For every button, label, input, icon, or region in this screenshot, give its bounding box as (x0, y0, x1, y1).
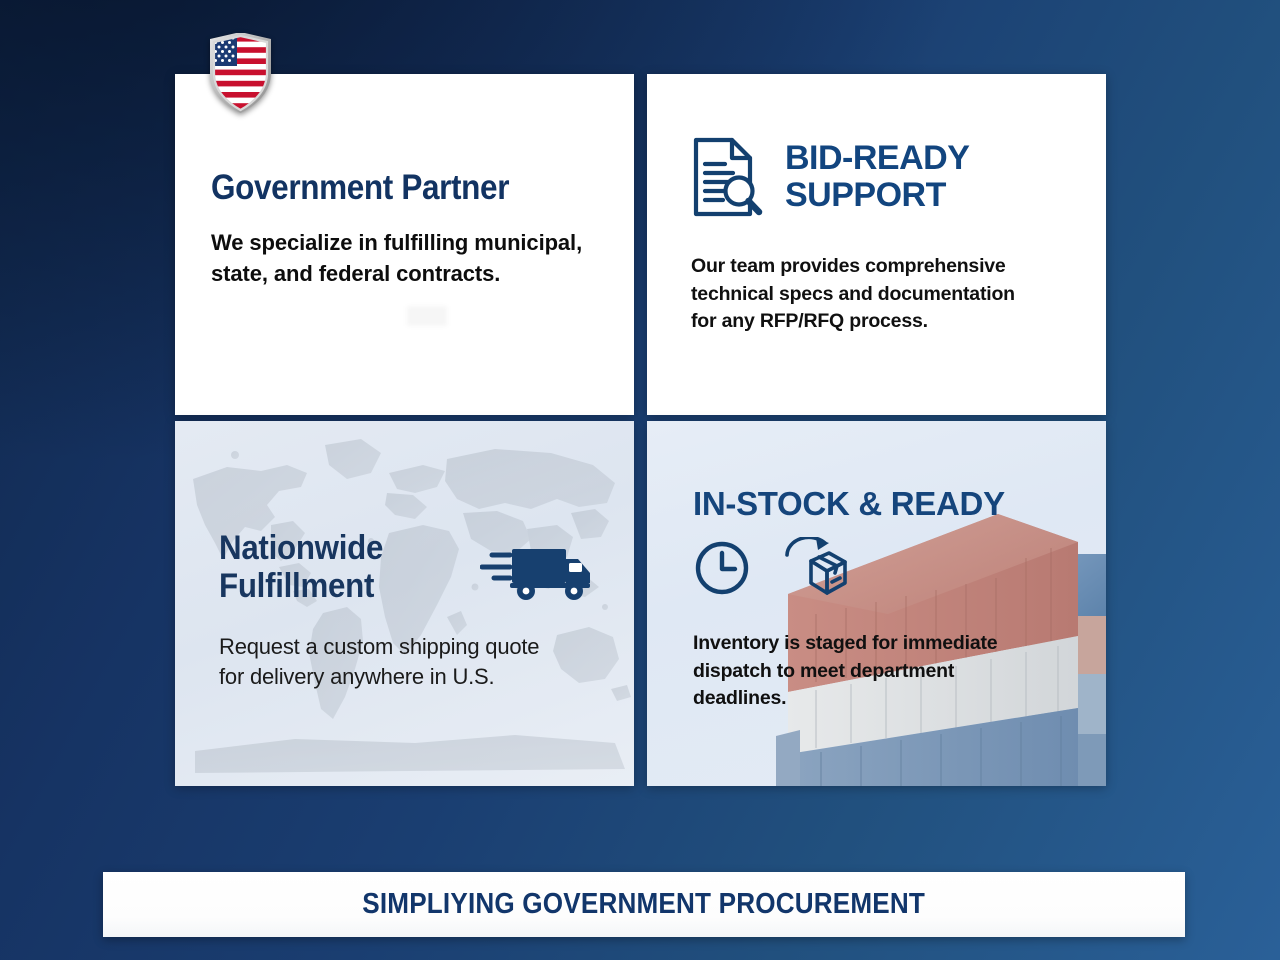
feature-card-grid: Government Partner We specialize in fulf… (175, 74, 1106, 786)
card-bid-ready-support[interactable]: BID-READY SUPPORT Our team provides comp… (647, 74, 1106, 415)
card-nationwide-body: Request a custom shipping quote for deli… (219, 632, 600, 693)
title-line-1: BID-READY (785, 140, 969, 177)
card-bid-ready-body: Our team provides comprehensive technica… (691, 253, 1061, 336)
document-search-icon (691, 136, 763, 223)
footer-banner[interactable]: SIMPLIYING GOVERNMENT PROCUREMENT (103, 872, 1185, 937)
footer-banner-text: SIMPLIYING GOVERNMENT PROCUREMENT (363, 888, 926, 921)
body-line-3: deadlines. (693, 685, 1038, 713)
card-bid-ready-title: BID-READY SUPPORT (785, 136, 969, 213)
card-nationwide-fulfillment[interactable]: Nationwide Fulfillment Request a custom … (175, 421, 634, 786)
body-line-1: Inventory is staged for immediate (693, 630, 1038, 658)
usa-flag-shield-icon (207, 33, 274, 113)
package-return-icon (777, 537, 847, 604)
title-line-2: SUPPORT (785, 177, 969, 214)
card-in-stock-title: IN-STOCK & READY (693, 485, 1072, 523)
body-line-2: state, and federal contracts. (211, 258, 594, 289)
body-line-3: for any RFP/RFQ process. (691, 308, 1061, 336)
body-line-2: for delivery anywhere in U.S. (219, 662, 600, 692)
card-bid-ready-header: BID-READY SUPPORT (691, 136, 1072, 223)
body-line-1: Request a custom shipping quote (219, 632, 600, 662)
body-line-2: technical specs and documentation (691, 281, 1061, 309)
card-in-stock-content: IN-STOCK & READY (693, 485, 1072, 713)
background-artifact (407, 306, 447, 326)
card-government-partner[interactable]: Government Partner We specialize in fulf… (175, 74, 634, 415)
body-line-2: dispatch to meet department (693, 658, 1038, 686)
card-in-stock-icon-row (693, 537, 1072, 604)
body-line-1: We specialize in fulfilling municipal, (211, 227, 594, 258)
delivery-truck-icon (480, 541, 592, 608)
body-line-1: Our team provides comprehensive (691, 253, 1061, 281)
card-government-partner-body: We specialize in fulfilling municipal, s… (211, 227, 594, 289)
card-in-stock-and-ready[interactable]: IN-STOCK & READY (647, 421, 1106, 786)
clock-icon (693, 539, 751, 602)
card-in-stock-body: Inventory is staged for immediate dispat… (693, 630, 1038, 713)
card-government-partner-title: Government Partner (211, 170, 556, 207)
